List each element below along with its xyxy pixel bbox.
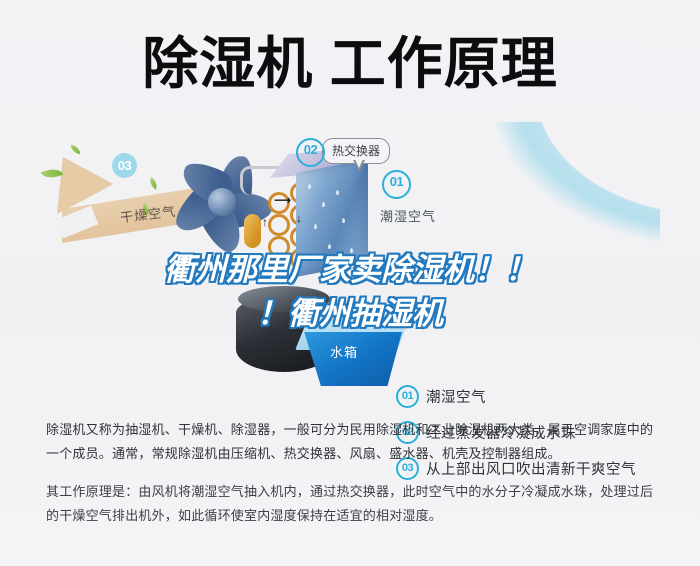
diagram-badge-02: 02 [296,138,325,167]
water-droplet-icon [350,248,353,253]
step-text-01: 潮湿空气 [426,386,486,407]
flow-arrow-up-icon: ↑ [262,216,268,228]
step-badge-01: 01 [396,385,419,408]
water-droplet-icon [342,218,345,223]
water-droplet-icon [328,244,331,249]
paragraph-principle: 其工作原理是：由风机将潮湿空气抽入机内，通过热交换器，此时空气中的水分子冷凝成水… [46,480,658,528]
water-droplet-icon [322,202,325,207]
air-inlet-arrow-icon [352,258,404,278]
water-droplet-icon [314,224,317,229]
infographic-page: 除湿机 工作原理 [0,0,700,566]
dehumidifier-diagram: ⟶ ↑ ↓ ⟵ 水箱 热交换器 03 02 01 干燥空气 潮湿空气 01 潮湿… [0,120,700,400]
water-tank-label: 水箱 [330,342,358,361]
fan-hub [208,188,236,216]
paragraph-definition: 除湿机又称为抽湿机、干燥机、除湿器，一般可分为民用除湿机和工业除湿机两大类，属于… [46,418,658,466]
water-droplet-icon [308,184,311,189]
leaf-icon [147,177,160,189]
article-body: 除湿机又称为抽湿机、干燥机、除湿器，一般可分为民用除湿机和工业除湿机两大类，属于… [46,418,658,542]
flow-arrow-left-icon: ⟵ [268,270,285,282]
callout-tail-inner [355,159,363,168]
water-droplet-icon [336,190,339,195]
coil-ring [268,236,290,258]
flow-arrow-right-icon: ⟶ [274,194,291,206]
page-title: 除湿机 工作原理 [0,28,700,100]
diagram-badge-03: 03 [112,153,137,178]
flow-arrow-down-icon: ↓ [296,212,302,224]
coil-reservoir [244,214,261,248]
humid-air-stream [360,122,660,332]
diagram-badge-01: 01 [382,170,411,199]
process-step-01: 01 潮湿空气 [396,378,696,414]
compressor-top [238,286,330,312]
coil-ring [268,214,290,236]
humid-air-label: 潮湿空气 [380,206,436,225]
